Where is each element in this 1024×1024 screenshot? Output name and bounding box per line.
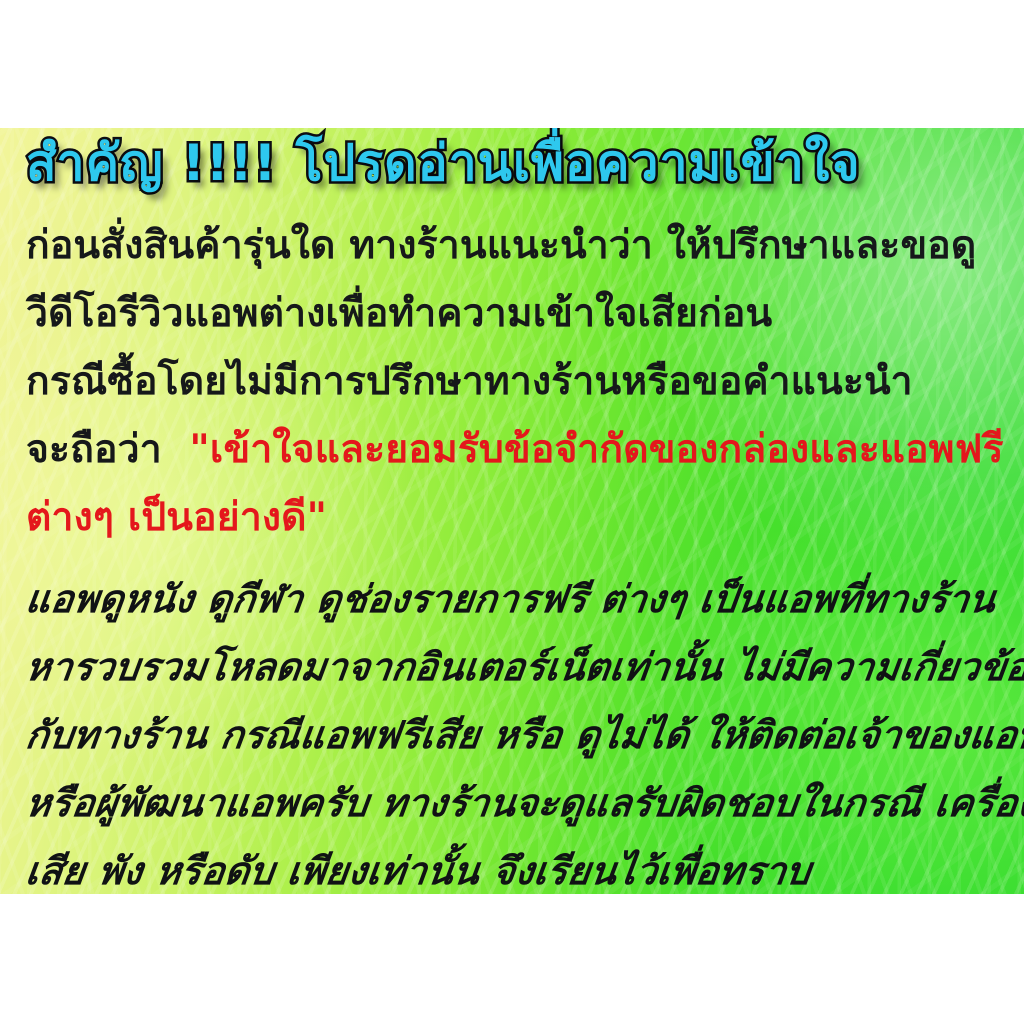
quote-lead-text: จะถือว่า [26,427,162,472]
notice-quote-line: จะถือว่า "เข้าใจและยอมรับข้อจำกัดของกล่อ… [26,430,1004,469]
disclaimer-line-5: เสีย พัง หรือดับ เพียงเท่านั้น จึงเรียนไ… [24,852,813,890]
banner-content: สำคัญ !!!! โปรดอ่านเพื่อความเข้าใจ ก่อนส… [0,128,1024,894]
disclaimer-line-2: หารวบรวมโหลดมาจากอินเตอร์เน็ตเท่านั้น ไม… [24,648,1024,686]
quote-highlight-text-2: ต่างๆ เป็นอย่างดี" [26,498,327,537]
notice-line-2: วีดีโอรีวิวแอพต่างเพื่อทำความเข้าใจเสียก… [26,294,772,333]
notice-line-3: กรณีซื้อโดยไม่มีการปรึกษาทางร้านหรือขอคำ… [26,362,913,401]
quote-highlight-text: "เข้าใจและยอมรับข้อจำกัดของกล่องและแอพฟร… [189,427,1003,472]
page-root: สำคัญ !!!! โปรดอ่านเพื่อความเข้าใจ ก่อนส… [0,0,1024,1024]
disclaimer-line-4: หรือผู้พัฒนาแอพครับ ทางร้านจะดูแลรับผิดช… [24,784,1024,822]
notice-line-1: ก่อนสั่งสินค้ารุ่นใด ทางร้านแนะนำว่า ให้… [26,226,976,265]
disclaimer-line-1: แอพดูหนัง ดูกีฬา ดูช่องรายการฟรี ต่างๆ เ… [24,580,998,618]
notice-banner: สำคัญ !!!! โปรดอ่านเพื่อความเข้าใจ ก่อนส… [0,128,1024,894]
disclaimer-line-3: กับทางร้าน กรณีแอพฟรีเสีย หรือ ดูไม่ได้ … [24,716,1024,754]
banner-headline: สำคัญ !!!! โปรดอ่านเพื่อความเข้าใจ [26,138,861,188]
